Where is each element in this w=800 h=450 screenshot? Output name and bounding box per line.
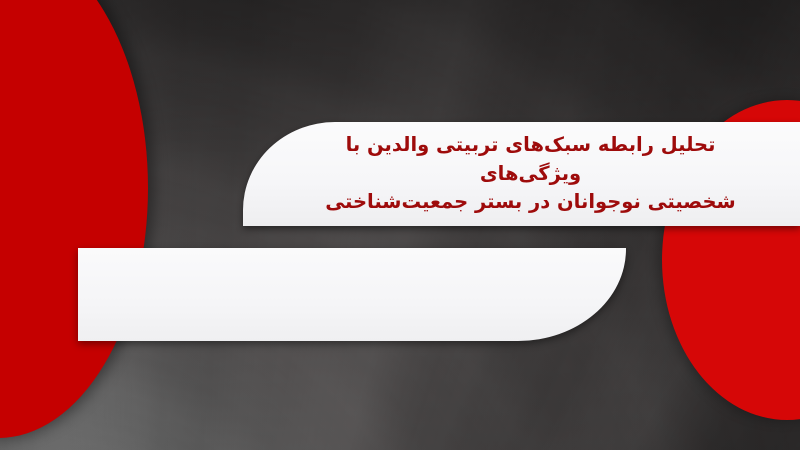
title-plate[interactable]: تحلیل رابطه سبک‌های تربیتی والدین با ویژ… [243,122,800,226]
presentation-slide: تحلیل رابطه سبک‌های تربیتی والدین با ویژ… [0,0,800,450]
content-body-text [78,248,626,341]
content-plate[interactable] [78,248,626,341]
slide-title: تحلیل رابطه سبک‌های تربیتی والدین با ویژ… [307,131,754,218]
